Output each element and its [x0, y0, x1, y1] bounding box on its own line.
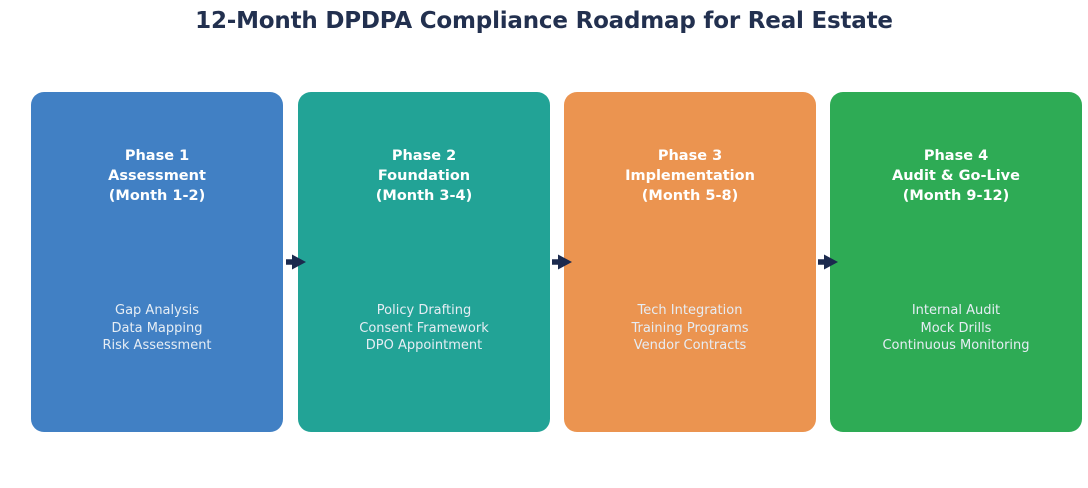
phase-heading: Phase 4 Audit & Go-Live (Month 9-12) — [830, 146, 1082, 206]
phase-heading: Phase 2 Foundation (Month 3-4) — [298, 146, 550, 206]
phase-card-phase-2[interactable]: Phase 2 Foundation (Month 3-4) Policy Dr… — [298, 92, 550, 432]
roadmap-flow: Phase 1 Assessment (Month 1-2) Gap Analy… — [31, 92, 1078, 432]
phase-heading: Phase 1 Assessment (Month 1-2) — [31, 146, 283, 206]
arrow-right-icon — [818, 253, 840, 271]
roadmap-page: 12-Month DPDPA Compliance Roadmap for Re… — [0, 0, 1088, 488]
arrow-right-icon — [286, 253, 308, 271]
arrow-right-icon — [552, 253, 574, 271]
phase-heading: Phase 3 Implementation (Month 5-8) — [564, 146, 816, 206]
phase-items: Tech Integration Training Programs Vendo… — [564, 302, 816, 355]
phase-items: Gap Analysis Data Mapping Risk Assessmen… — [31, 302, 283, 355]
page-title: 12-Month DPDPA Compliance Roadmap for Re… — [0, 8, 1088, 34]
phase-items: Internal Audit Mock Drills Continuous Mo… — [830, 302, 1082, 355]
phase-card-phase-4[interactable]: Phase 4 Audit & Go-Live (Month 9-12) Int… — [830, 92, 1082, 432]
phase-card-phase-1[interactable]: Phase 1 Assessment (Month 1-2) Gap Analy… — [31, 92, 283, 432]
phase-items: Policy Drafting Consent Framework DPO Ap… — [298, 302, 550, 355]
phase-card-phase-3[interactable]: Phase 3 Implementation (Month 5-8) Tech … — [564, 92, 816, 432]
